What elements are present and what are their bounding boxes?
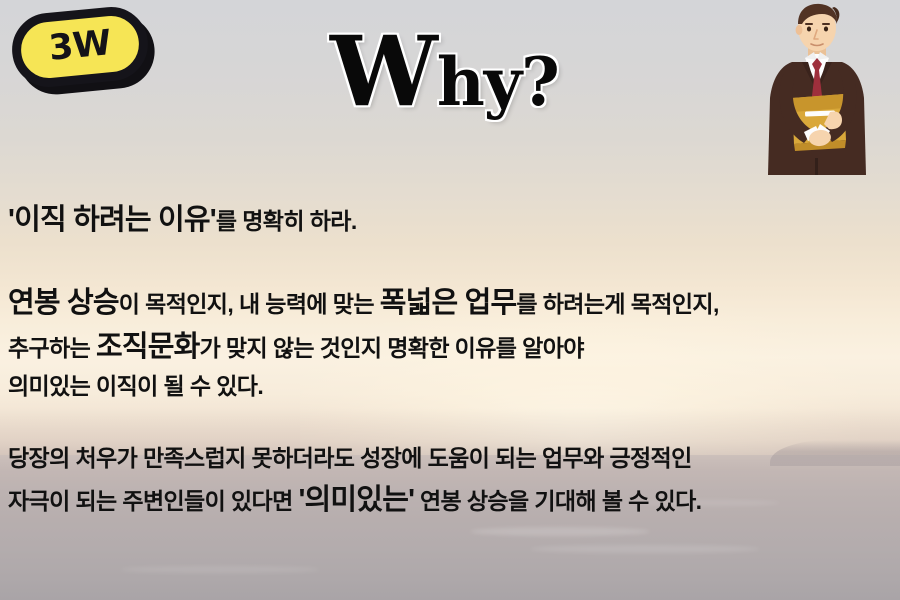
copy-run-emphasis: 연봉 상승 <box>8 287 119 319</box>
copy-run-emphasis: '의미있는' <box>298 484 414 516</box>
copy-run-emphasis: 폭넓은 업무 <box>380 287 517 319</box>
copy-line: 자극이 되는 주변인들이 있다면 '의미있는' 연봉 상승을 기대해 볼 수 있… <box>8 477 896 524</box>
copy-run: 가 맞지 않는 것인지 명확한 이유를 알아야 <box>200 335 584 361</box>
copy-run-emphasis: 조직문화 <box>96 331 200 363</box>
body-copy: '이직 하려는 이유'를 명확히 하라. 연봉 상승이 목적인지, 내 능력에 … <box>8 206 896 524</box>
copy-run: 자극이 되는 주변인들이 있다면 <box>8 488 298 514</box>
logo-badge-text: 3W <box>47 26 112 67</box>
copy-line: 의미있는 이직이 될 수 있다. <box>8 369 896 404</box>
slide-canvas: 3W W hy? <box>0 0 900 600</box>
copy-line: '이직 하려는 이유'를 명확히 하라. <box>8 206 896 235</box>
copy-run: 를 하려는게 목적인지, <box>516 291 718 317</box>
page-title-initial: W <box>330 28 437 116</box>
copy-run: 이 목적인지, 내 능력에 맞는 <box>119 291 380 317</box>
logo-badge: 3W <box>9 4 151 91</box>
paragraph-3: 당장의 처우가 만족스럽지 못하더라도 성장에 도움이 되는 업무와 긍정적인 … <box>8 440 896 524</box>
copy-run-emphasis: '이직 하려는 이유' <box>8 204 216 236</box>
copy-run: 의미있는 이직이 될 수 있다. <box>8 373 263 399</box>
copy-line: 당장의 처우가 만족스럽지 못하더라도 성장에 도움이 되는 업무와 긍정적인 <box>8 440 896 477</box>
copy-run: 추구하는 <box>8 335 96 361</box>
businessman-illustration <box>758 0 876 175</box>
page-title-rest: hy? <box>437 52 559 113</box>
copy-run: 당장의 처우가 만족스럽지 못하더라도 성장에 도움이 되는 업무와 긍정적인 <box>8 445 692 471</box>
copy-line: 연봉 상승이 목적인지, 내 능력에 맞는 폭넓은 업무를 하려는게 목적인지, <box>8 281 896 325</box>
paragraph-2: 연봉 상승이 목적인지, 내 능력에 맞는 폭넓은 업무를 하려는게 목적인지,… <box>8 281 896 404</box>
copy-line: 추구하는 조직문화가 맞지 않는 것인지 명확한 이유를 알아야 <box>8 325 896 369</box>
copy-run: 연봉 상승을 기대해 볼 수 있다. <box>414 488 701 514</box>
page-title: W hy? <box>330 28 559 116</box>
paragraph-1: '이직 하려는 이유'를 명확히 하라. <box>8 206 896 235</box>
copy-run: 를 명확히 하라. <box>216 208 357 234</box>
